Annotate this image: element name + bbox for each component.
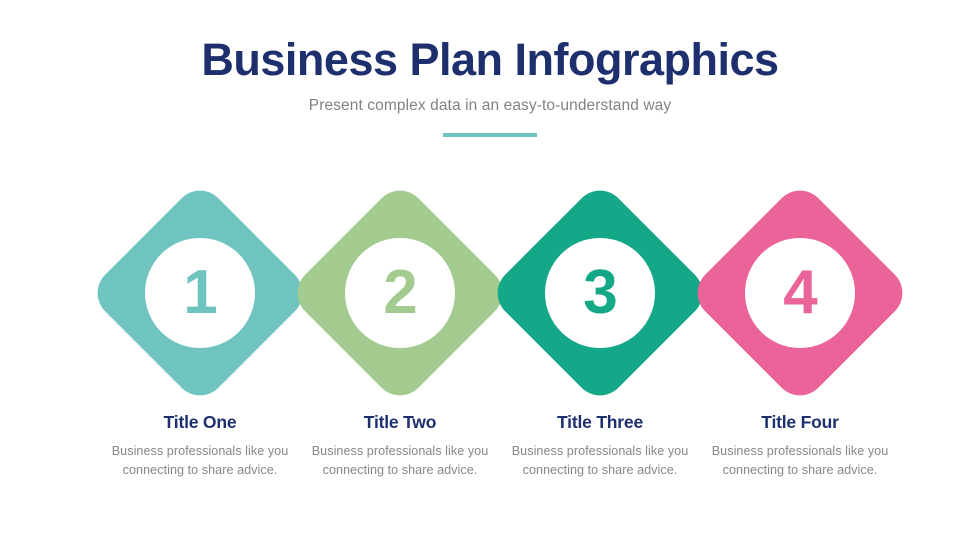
diamond-number-1: 1 [183, 262, 216, 324]
diamond-row: 1 2 3 4 [0, 192, 980, 394]
diamond-step-3[interactable]: 3 [499, 192, 701, 394]
page-subtitle: Present complex data in an easy-to-under… [0, 83, 980, 115]
caption-body-1: Business professionals like you connecti… [95, 433, 305, 480]
diamond-circle-3: 3 [545, 238, 655, 348]
caption-step-4: Title Four Business professionals like y… [695, 412, 905, 480]
caption-row: Title One Business professionals like yo… [0, 412, 980, 512]
caption-body-3: Business professionals like you connecti… [495, 433, 705, 480]
diamond-number-2: 2 [383, 262, 416, 324]
page-title: Business Plan Infographics [0, 36, 980, 83]
caption-step-2: Title Two Business professionals like yo… [295, 412, 505, 480]
caption-body-4: Business professionals like you connecti… [695, 433, 905, 480]
diamond-number-3: 3 [583, 262, 616, 324]
caption-step-1: Title One Business professionals like yo… [95, 412, 305, 480]
slide-header: Business Plan Infographics Present compl… [0, 36, 980, 137]
header-divider [443, 133, 537, 137]
caption-title-3: Title Three [495, 412, 705, 433]
caption-title-4: Title Four [695, 412, 905, 433]
diamond-circle-1: 1 [145, 238, 255, 348]
caption-title-1: Title One [95, 412, 305, 433]
diamond-step-1[interactable]: 1 [99, 192, 301, 394]
diamond-circle-2: 2 [345, 238, 455, 348]
diamond-number-4: 4 [783, 262, 816, 324]
diamond-step-2[interactable]: 2 [299, 192, 501, 394]
diamond-circle-4: 4 [745, 238, 855, 348]
caption-step-3: Title Three Business professionals like … [495, 412, 705, 480]
caption-body-2: Business professionals like you connecti… [295, 433, 505, 480]
diamond-step-4[interactable]: 4 [699, 192, 901, 394]
infographic-slide: Business Plan Infographics Present compl… [0, 0, 980, 551]
caption-title-2: Title Two [295, 412, 505, 433]
